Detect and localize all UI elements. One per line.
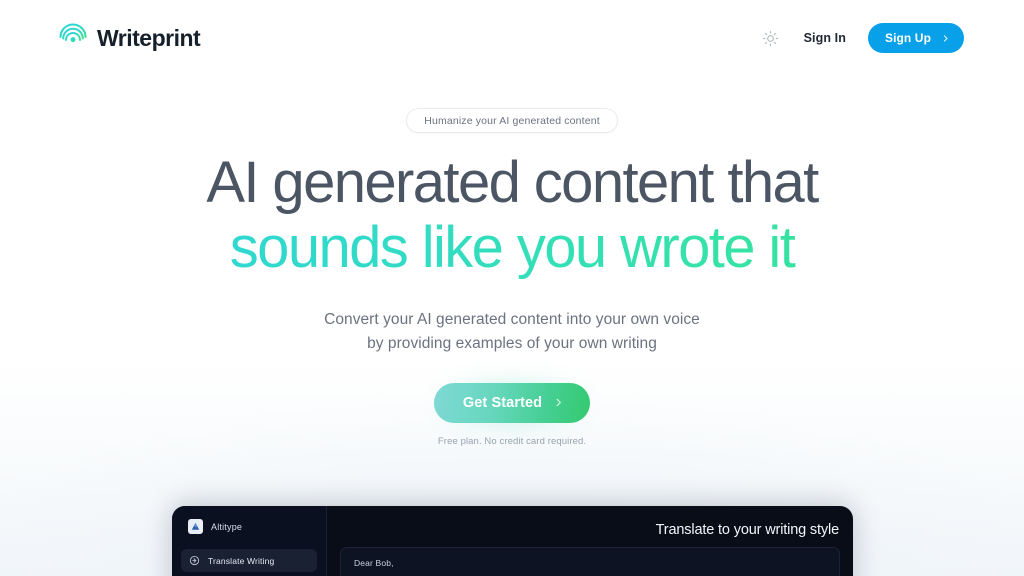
app-nav-item-label: Translate Writing xyxy=(208,556,274,566)
sun-icon[interactable] xyxy=(760,27,782,49)
site-header: Writeprint Sign In Sign Up xyxy=(0,0,1024,76)
sign-in-link[interactable]: Sign In xyxy=(804,31,846,45)
page-title: AI generated content that sounds like yo… xyxy=(0,153,1024,279)
app-brand: Altitype xyxy=(172,506,326,534)
sign-up-label: Sign Up xyxy=(885,31,931,45)
headline-line-2: sounds like you wrote it xyxy=(0,218,1024,278)
chevron-right-icon xyxy=(553,397,564,408)
brand-logo[interactable]: Writeprint xyxy=(58,20,200,56)
hero-section: Humanize your AI generated content AI ge… xyxy=(0,108,1024,447)
subheading-line-1: Convert your AI generated content into y… xyxy=(0,308,1024,332)
subheading-line-2: by providing examples of your own writin… xyxy=(0,332,1024,356)
hero-subheading: Convert your AI generated content into y… xyxy=(0,308,1024,357)
header-actions: Sign In Sign Up xyxy=(760,23,964,53)
hero-eyebrow-badge: Humanize your AI generated content xyxy=(406,108,618,133)
cta-container: Get Started xyxy=(434,383,590,423)
app-main-title: Translate to your writing style xyxy=(656,522,839,538)
arrow-circle-right-icon xyxy=(189,555,200,566)
fingerprint-logo-icon xyxy=(58,20,88,56)
landing-page: Writeprint Sign In Sign Up Hum xyxy=(0,0,1024,576)
sign-up-button[interactable]: Sign Up xyxy=(868,23,964,53)
app-nav-item-translate-writing[interactable]: Translate Writing xyxy=(181,549,317,572)
app-preview-sidebar: Altitype Translate Writing xyxy=(172,506,327,576)
mountain-triangle-icon xyxy=(188,519,203,534)
cta-footnote: Free plan. No credit card required. xyxy=(0,436,1024,447)
chevron-right-icon xyxy=(941,34,950,43)
get-started-button[interactable]: Get Started xyxy=(434,383,590,423)
brand-name: Writeprint xyxy=(97,25,200,52)
app-brand-name: Altitype xyxy=(211,522,242,532)
app-editor-area[interactable]: Dear Bob, xyxy=(340,547,840,576)
get-started-label: Get Started xyxy=(463,395,542,411)
app-preview-panel: Altitype Translate Writing Translate to … xyxy=(172,506,853,576)
app-editor-text: Dear Bob, xyxy=(341,548,839,568)
headline-line-1: AI generated content that xyxy=(206,150,817,215)
app-preview-main: Translate to your writing style Dear Bob… xyxy=(327,506,853,576)
